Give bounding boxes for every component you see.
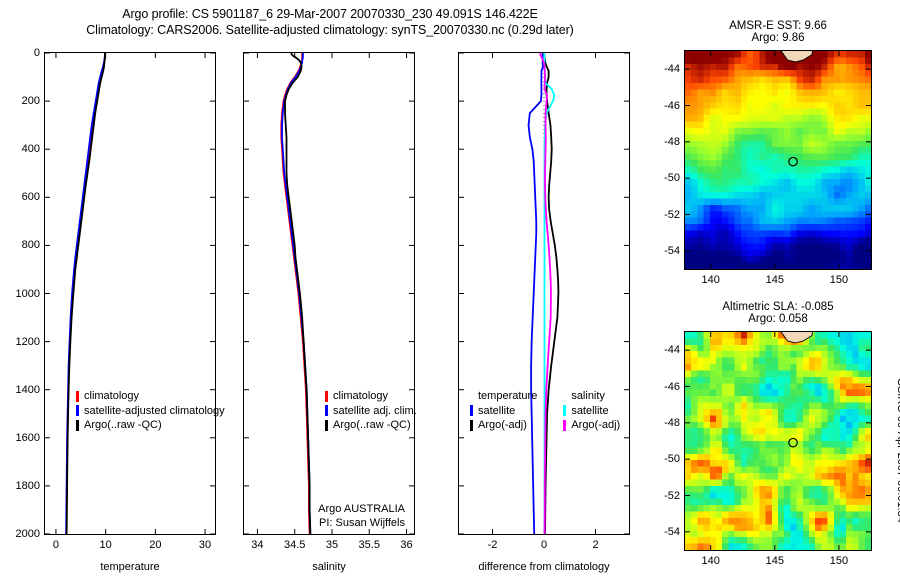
legend-item: satellite adj. clim. [325, 404, 417, 419]
legend-label: satellite adj. clim. [333, 404, 417, 419]
timestamp-label: CSIRO 09-Apr-2007 09:01:34 [895, 378, 900, 523]
legend-label: satellite [478, 404, 515, 419]
sla-map-title: Altimetric SLA: -0.085 Argo: 0.058 [717, 301, 839, 325]
argo-swatch-icon [470, 420, 473, 431]
axis-tick-label-x: -2 [488, 539, 498, 551]
axis-tick-label-y: 600 [2, 191, 40, 203]
axis-tick-label-x: 10 [100, 539, 112, 551]
difference-legend: temperature satellite Argo(-adj) salinit… [470, 389, 620, 433]
axis-tick-label-y: 1000 [2, 288, 40, 300]
map-tick-label-y: -46 [650, 381, 680, 393]
legend-label: satellite [571, 404, 608, 419]
axis-tick-label-x: 20 [149, 539, 161, 551]
axis-tick-label-y: 1200 [2, 336, 40, 348]
legend-item: Argo(..raw -QC) [325, 418, 417, 433]
axis-tick-label-y: 400 [2, 143, 40, 155]
legend-item: satellite-adjusted climatology [76, 404, 225, 419]
temperature-axis-label: temperature [100, 561, 159, 573]
map-tick-label-y: -50 [650, 453, 680, 465]
map-tick-label-y: -52 [650, 490, 680, 502]
map-tick-label-y: -54 [650, 245, 680, 257]
salinity-panel [243, 52, 415, 535]
map-tick-label-y: -52 [650, 209, 680, 221]
difference-legend-salinity: salinity satellite Argo(-adj) [563, 389, 620, 433]
legend-label: Argo(-adj) [571, 418, 620, 433]
figure-title: Argo profile: CS 5901187_6 29-Mar-2007 2… [0, 6, 660, 38]
satellite-swatch-icon [76, 405, 79, 416]
argo-swatch-icon [325, 420, 328, 431]
legend-item: Argo(-adj) [470, 418, 537, 433]
map-tick-label-y: -48 [650, 136, 680, 148]
map-tick-label-y: -44 [650, 63, 680, 75]
credit-line-2: PI: Susan Wijffels [225, 516, 405, 530]
sst-map [684, 50, 872, 270]
axis-tick-label-x: 0 [541, 539, 547, 551]
legend-label: climatology [84, 389, 139, 404]
map-tick-label-y: -46 [650, 100, 680, 112]
map-tick-label-x: 145 [766, 555, 784, 567]
argo-swatch-icon [76, 420, 79, 431]
axis-tick-label-x: 35.5 [359, 539, 380, 551]
map-tick-label-x: 150 [830, 274, 848, 286]
title-line-2: Climatology: CARS2006. Satellite-adjuste… [0, 22, 660, 38]
axis-tick-label-y: 1400 [2, 384, 40, 396]
axis-tick-label-x: 34.5 [284, 539, 305, 551]
map-tick-label-x: 150 [830, 555, 848, 567]
map-tick-label-x: 140 [701, 555, 719, 567]
legend-item: Argo(..raw -QC) [76, 418, 225, 433]
axis-tick-label-x: 2 [592, 539, 598, 551]
sla-map [684, 331, 872, 551]
salinity-argo-swatch-icon [563, 420, 566, 431]
salinity-legend: climatology satellite adj. clim. Argo(..… [325, 389, 417, 433]
legend-item: climatology [325, 389, 417, 404]
difference-panel [458, 52, 630, 535]
credit-block: Argo AUSTRALIA PI: Susan Wijffels [225, 502, 405, 530]
legend-label: climatology [333, 389, 388, 404]
legend-header: temperature [470, 389, 537, 404]
legend-item: satellite [563, 404, 620, 419]
salinity-axis-label: salinity [312, 561, 346, 573]
climatology-swatch-icon [76, 391, 79, 402]
legend-item: Argo(-adj) [563, 418, 620, 433]
axis-tick-label-y: 2000 [2, 528, 40, 540]
axis-tick-label-y: 0 [2, 47, 40, 59]
legend-label: Argo(..raw -QC) [84, 418, 162, 433]
axis-tick-label-y: 800 [2, 239, 40, 251]
axis-tick-label-x: 30 [199, 539, 211, 551]
axis-tick-label-y: 1600 [2, 432, 40, 444]
title-line-1: Argo profile: CS 5901187_6 29-Mar-2007 2… [0, 6, 660, 22]
legend-item: climatology [76, 389, 225, 404]
temperature-panel [44, 52, 216, 535]
axis-tick-label-y: 1800 [2, 480, 40, 492]
sst-map-title: AMSR-E SST: 9.66 Argo: 9.86 [717, 20, 839, 44]
map-tick-label-x: 140 [701, 274, 719, 286]
axis-tick-label-y: 200 [2, 95, 40, 107]
legend-header: salinity [563, 389, 620, 404]
map-tick-label-y: -44 [650, 344, 680, 356]
axis-tick-label-x: 34 [251, 539, 263, 551]
satellite-swatch-icon [325, 405, 328, 416]
legend-item: satellite [470, 404, 537, 419]
difference-legend-temperature: temperature satellite Argo(-adj) [470, 389, 537, 433]
temperature-legend: climatology satellite-adjusted climatolo… [76, 389, 225, 433]
map-tick-label-x: 145 [766, 274, 784, 286]
climatology-swatch-icon [325, 391, 328, 402]
map-tick-label-y: -54 [650, 526, 680, 538]
satellite-swatch-icon [470, 405, 473, 416]
credit-line-1: Argo AUSTRALIA [225, 502, 405, 516]
map-tick-label-y: -50 [650, 172, 680, 184]
legend-label: Argo(..raw -QC) [333, 418, 411, 433]
salinity-satellite-swatch-icon [563, 405, 566, 416]
axis-tick-label-x: 36 [400, 539, 412, 551]
legend-label: Argo(-adj) [478, 418, 527, 433]
axis-tick-label-x: 35 [326, 539, 338, 551]
difference-axis-label: difference from climatology [478, 561, 609, 573]
legend-label: satellite-adjusted climatology [84, 404, 225, 419]
axis-tick-label-x: 0 [53, 539, 59, 551]
map-tick-label-y: -48 [650, 417, 680, 429]
